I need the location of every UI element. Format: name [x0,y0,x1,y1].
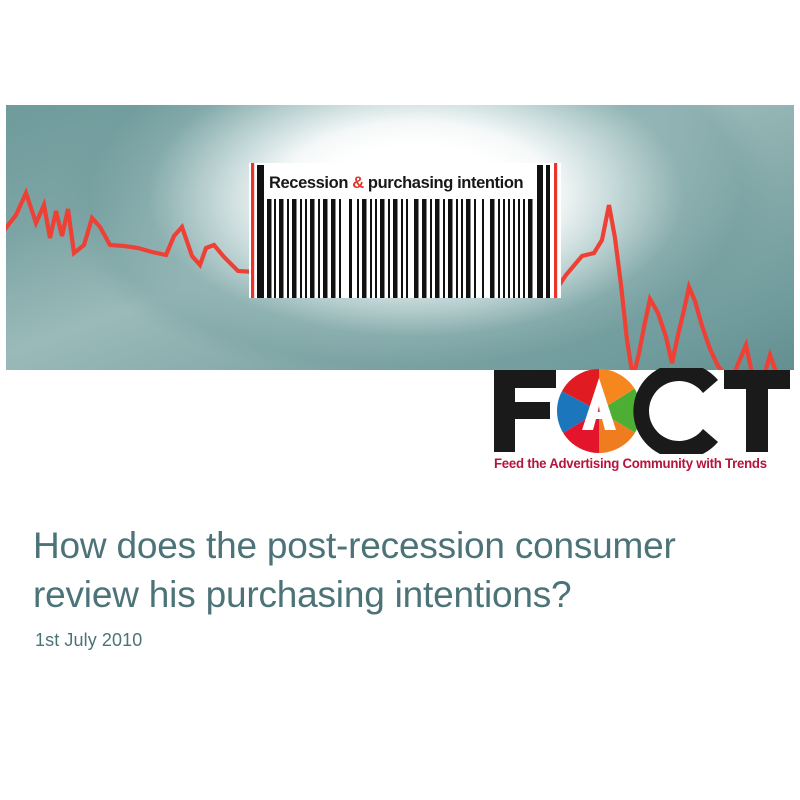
banner-image: Recession & purchasing intention [6,105,794,370]
fact-logo-mark [492,368,792,454]
logo-letter-f-icon [494,370,556,452]
banner-inner: Recession & purchasing intention [6,105,794,370]
logo-letter-c-icon [633,368,718,454]
logo-letter-t-icon [724,370,790,452]
barcode-caption-before: Recession [269,173,352,192]
barcode-graphic: Recession & purchasing intention [249,163,561,298]
barcode-caption-ampersand: & [352,173,364,192]
page-date: 1st July 2010 [35,628,142,652]
fact-wordmark-icon [492,368,792,454]
slide-root: Recession & purchasing intention [0,0,800,800]
fact-logo: Feed the Advertising Community with Tren… [492,368,792,480]
barcode-caption: Recession & purchasing intention [269,172,533,194]
fact-logo-tagline: Feed the Advertising Community with Tren… [494,456,788,471]
page-title: How does the post-recession consumer rev… [33,521,763,619]
barcode-caption-after: purchasing intention [364,173,524,192]
